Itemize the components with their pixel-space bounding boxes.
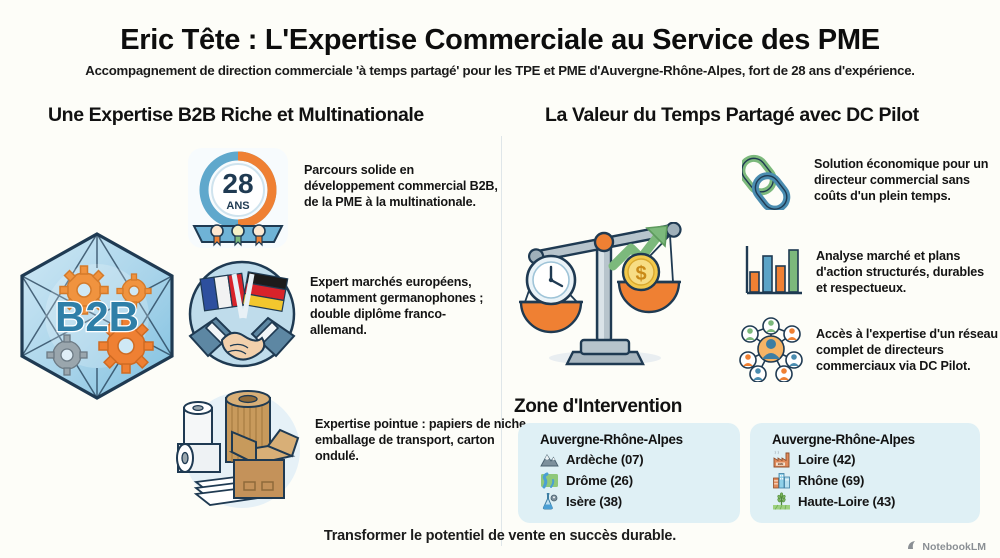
- zone-item-isere-label: Isère (38): [566, 494, 622, 509]
- people-network-icon: [738, 316, 804, 387]
- left-item-28-ans-text: Parcours solide en développement commerc…: [304, 146, 504, 210]
- left-item-european-markets-text: Expert marchés européens, notamment germ…: [310, 258, 490, 338]
- page-subtitle: Accompagnement de direction commerciale …: [0, 63, 1000, 78]
- zone-box-1-region: Auvergne-Rhône-Alpes: [540, 432, 726, 447]
- zone-item-ardeche-label: Ardèche (07): [566, 452, 644, 467]
- badge-label: ANS: [226, 200, 249, 212]
- zone-item-loire-label: Loire (42): [798, 452, 855, 467]
- notebooklm-watermark: NotebookLM: [907, 540, 986, 554]
- zone-item-drome-label: Drôme (26): [566, 473, 633, 488]
- zone-section-title: Zone d'Intervention: [514, 396, 682, 418]
- factory-icon: B2B: [772, 450, 791, 469]
- chain-link-icon: [742, 144, 804, 215]
- franco-german-handshake-icon: [186, 258, 298, 375]
- zone-box-2: Auvergne-Rhône-Alpes B2B Loire (42): [750, 423, 980, 523]
- zone-item-rhone: Rhône (69): [772, 471, 966, 490]
- badge-number: 28: [222, 168, 253, 199]
- cityscape-icon: [772, 471, 791, 490]
- footer-tagline: Transformer le potentiel de vente en suc…: [0, 528, 1000, 544]
- right-item-economic-solution-text: Solution économique pour un directeur co…: [814, 144, 994, 204]
- zone-item-haute-loire-label: Haute-Loire (43): [798, 494, 895, 509]
- zone-box-1: Auvergne-Rhône-Alpes Ardèche (07) Drôme …: [518, 423, 740, 523]
- zone-box-2-region: Auvergne-Rhône-Alpes: [772, 432, 966, 447]
- left-item-paper-expertise: Expertise pointue : papiers de niche, em…: [172, 386, 530, 519]
- zone-item-rhone-label: Rhône (69): [798, 473, 864, 488]
- right-item-market-analysis: Analyse marché et plans d'action structu…: [742, 238, 991, 305]
- coin-currency-symbol: $: [635, 263, 646, 285]
- notebooklm-label: NotebookLM: [922, 541, 986, 553]
- zone-item-drome: Drôme (26): [540, 471, 726, 490]
- b2b-hexagon-label: B2B: [55, 293, 139, 340]
- balance-scale-time-money-icon: $: [515, 222, 695, 402]
- left-column-heading: Une Expertise B2B Riche et Multinational…: [48, 104, 424, 127]
- left-item-28-ans: 28 ANS Parcours solide en développement …: [186, 146, 504, 255]
- page-title: Eric Tête : L'Expertise Commerciale au S…: [0, 24, 1000, 57]
- right-item-market-analysis-text: Analyse marché et plans d'action structu…: [816, 238, 991, 296]
- left-item-european-markets: Expert marchés européens, notamment germ…: [186, 258, 490, 375]
- 28-ans-badge-icon: 28 ANS: [186, 146, 290, 255]
- zone-item-haute-loire: Haute-Loire (43): [772, 492, 966, 511]
- right-item-network-access: Accès à l'expertise d'un réseau complet …: [738, 316, 1000, 387]
- b2b-hexagon-glyph: B2B: [12, 228, 182, 408]
- right-column-heading: La Valeur du Temps Partagé avec DC Pilot: [545, 104, 919, 127]
- paper-packaging-icon: [172, 386, 307, 519]
- notebooklm-logo-icon: [907, 540, 918, 554]
- balance-scale-glyph: $: [515, 222, 695, 402]
- bar-chart-icon: [742, 238, 804, 305]
- zone-item-isere: Isère (38): [540, 492, 726, 511]
- left-item-paper-expertise-text: Expertise pointue : papiers de niche, em…: [315, 386, 530, 464]
- zone-item-ardeche: Ardèche (07): [540, 450, 726, 469]
- flask-icon: [540, 492, 559, 511]
- river-icon: [540, 471, 559, 490]
- b2b-hexagon-icon: B2B: [12, 228, 182, 408]
- zone-item-loire: B2B Loire (42): [772, 450, 966, 469]
- mountain-icon: [540, 450, 559, 469]
- right-item-network-access-text: Accès à l'expertise d'un réseau complet …: [816, 316, 1000, 374]
- right-item-economic-solution: Solution économique pour un directeur co…: [742, 144, 994, 215]
- infographic-page: Eric Tête : L'Expertise Commerciale au S…: [0, 0, 1000, 558]
- farm-field-icon: [772, 492, 791, 511]
